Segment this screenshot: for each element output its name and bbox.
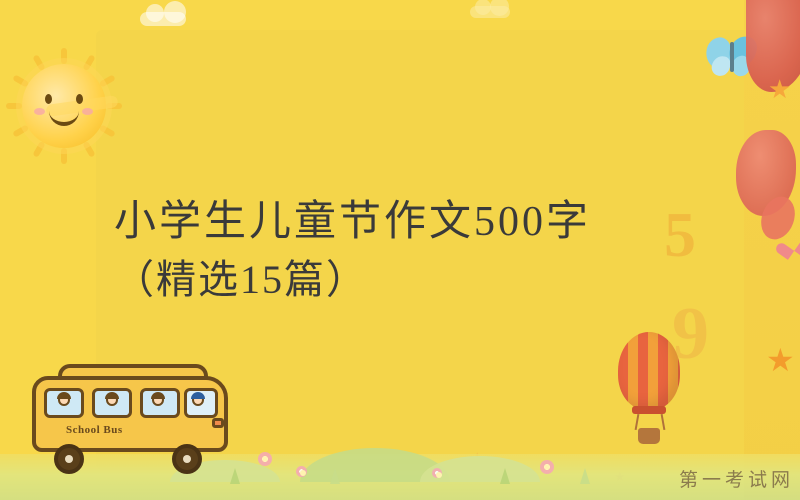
site-watermark: 第一考试网	[679, 465, 794, 492]
sun-face	[22, 64, 106, 148]
bus-passenger	[104, 394, 120, 414]
bus-passenger	[150, 394, 166, 414]
sun-icon	[4, 46, 124, 166]
star-icon: ★	[766, 344, 795, 376]
school-bus-icon: School Bus	[32, 362, 242, 472]
flower-icon	[258, 452, 272, 466]
bus-passenger	[56, 394, 72, 414]
heart-icon	[780, 232, 800, 256]
bus-label: School Bus	[66, 424, 123, 436]
cloud-icon	[140, 12, 186, 26]
flower-icon	[540, 460, 554, 474]
cloud-icon	[470, 6, 510, 18]
grass-icon	[330, 468, 340, 484]
hot-air-balloon-icon	[612, 332, 686, 458]
flower-icon	[432, 468, 442, 478]
flower-icon	[296, 466, 307, 477]
star-icon: ★	[768, 76, 791, 102]
title-line-2: （精选15篇）	[114, 254, 674, 305]
title-line-1: 小学生儿童节作文500字	[114, 196, 674, 250]
bus-driver	[190, 394, 206, 414]
illustration-canvas: ★ ★ ★ ★ 5 9 School Bus 小	[0, 0, 800, 500]
grass-icon	[500, 468, 510, 484]
title-block: 小学生儿童节作文500字 （精选15篇）	[114, 196, 674, 305]
grass-icon	[580, 468, 590, 484]
